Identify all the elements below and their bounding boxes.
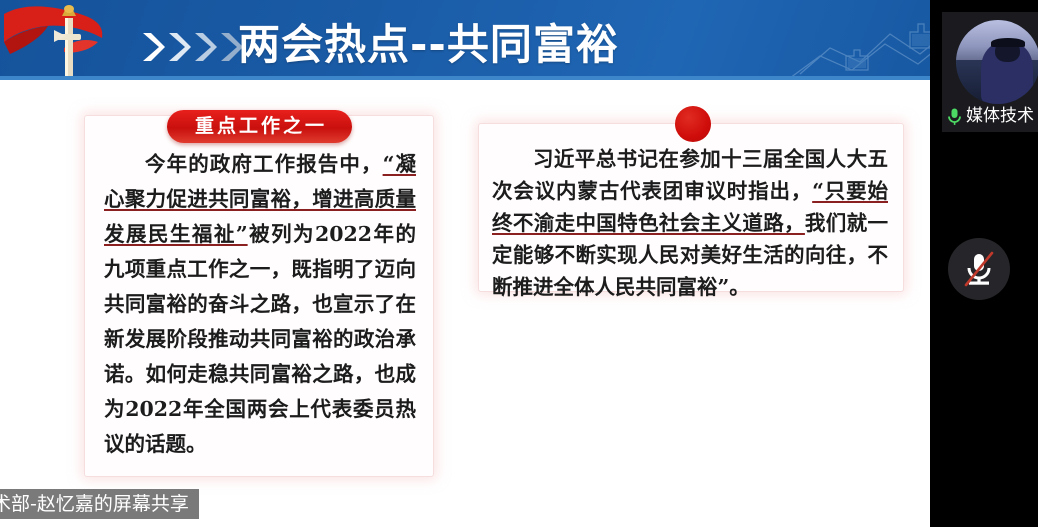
chevron-right-icon-2 (167, 31, 191, 63)
microphone-muted-icon (962, 250, 996, 288)
video-conference-panel: 媒体技术 (930, 0, 1038, 527)
right-panel-paragraph: 习近平总书记在参加十三届全国人大五次会议内蒙古代表团审议时指出，“只要始终不渝走… (492, 143, 888, 303)
key-task-badge-label: 重点工作之一 (192, 117, 327, 136)
participant-video-tile[interactable]: 媒体技术 (942, 12, 1038, 132)
chevron-arrows (141, 30, 243, 64)
banner-bottom-strip (0, 76, 1038, 80)
participant-name-label: 媒体技术 (966, 108, 1034, 125)
red-dot-marker-icon (675, 106, 711, 142)
microphone-mute-button[interactable] (948, 238, 1010, 300)
red-flag-logo (2, 0, 122, 80)
slide-title: 两会热点--共同富裕 (238, 20, 619, 70)
presentation-slide: 两会热点--共同富裕 重点工作之一 今年的政府工作报告中，“凝心聚力促进共同富裕… (0, 0, 1038, 527)
participant-name-row: 媒体技术 (946, 107, 1034, 126)
participant-avatar (956, 20, 1038, 104)
screen-share-status-text: 术部-赵忆嘉的屏幕共享 (0, 495, 189, 514)
chevron-right-icon-1 (141, 31, 165, 63)
left-panel-paragraph: 今年的政府工作报告中，“凝心聚力促进共同富裕，增进高质量发展民生福祉”被列为20… (104, 147, 416, 462)
screen-share-status-bar: 术部-赵忆嘉的屏幕共享 (0, 489, 199, 519)
slide-header-banner: 两会热点--共同富裕 (0, 0, 1038, 80)
chevron-right-icon-3 (193, 31, 217, 63)
key-task-badge: 重点工作之一 (167, 110, 352, 143)
left-paragraph-part2: 被列为2022年的九项重点工作之一，既指明了迈向共同富裕的奋斗之路，也宣示了在新… (104, 222, 416, 456)
left-paragraph-part1: 今年的政府工作报告中， (145, 152, 383, 176)
microphone-icon (946, 107, 963, 126)
